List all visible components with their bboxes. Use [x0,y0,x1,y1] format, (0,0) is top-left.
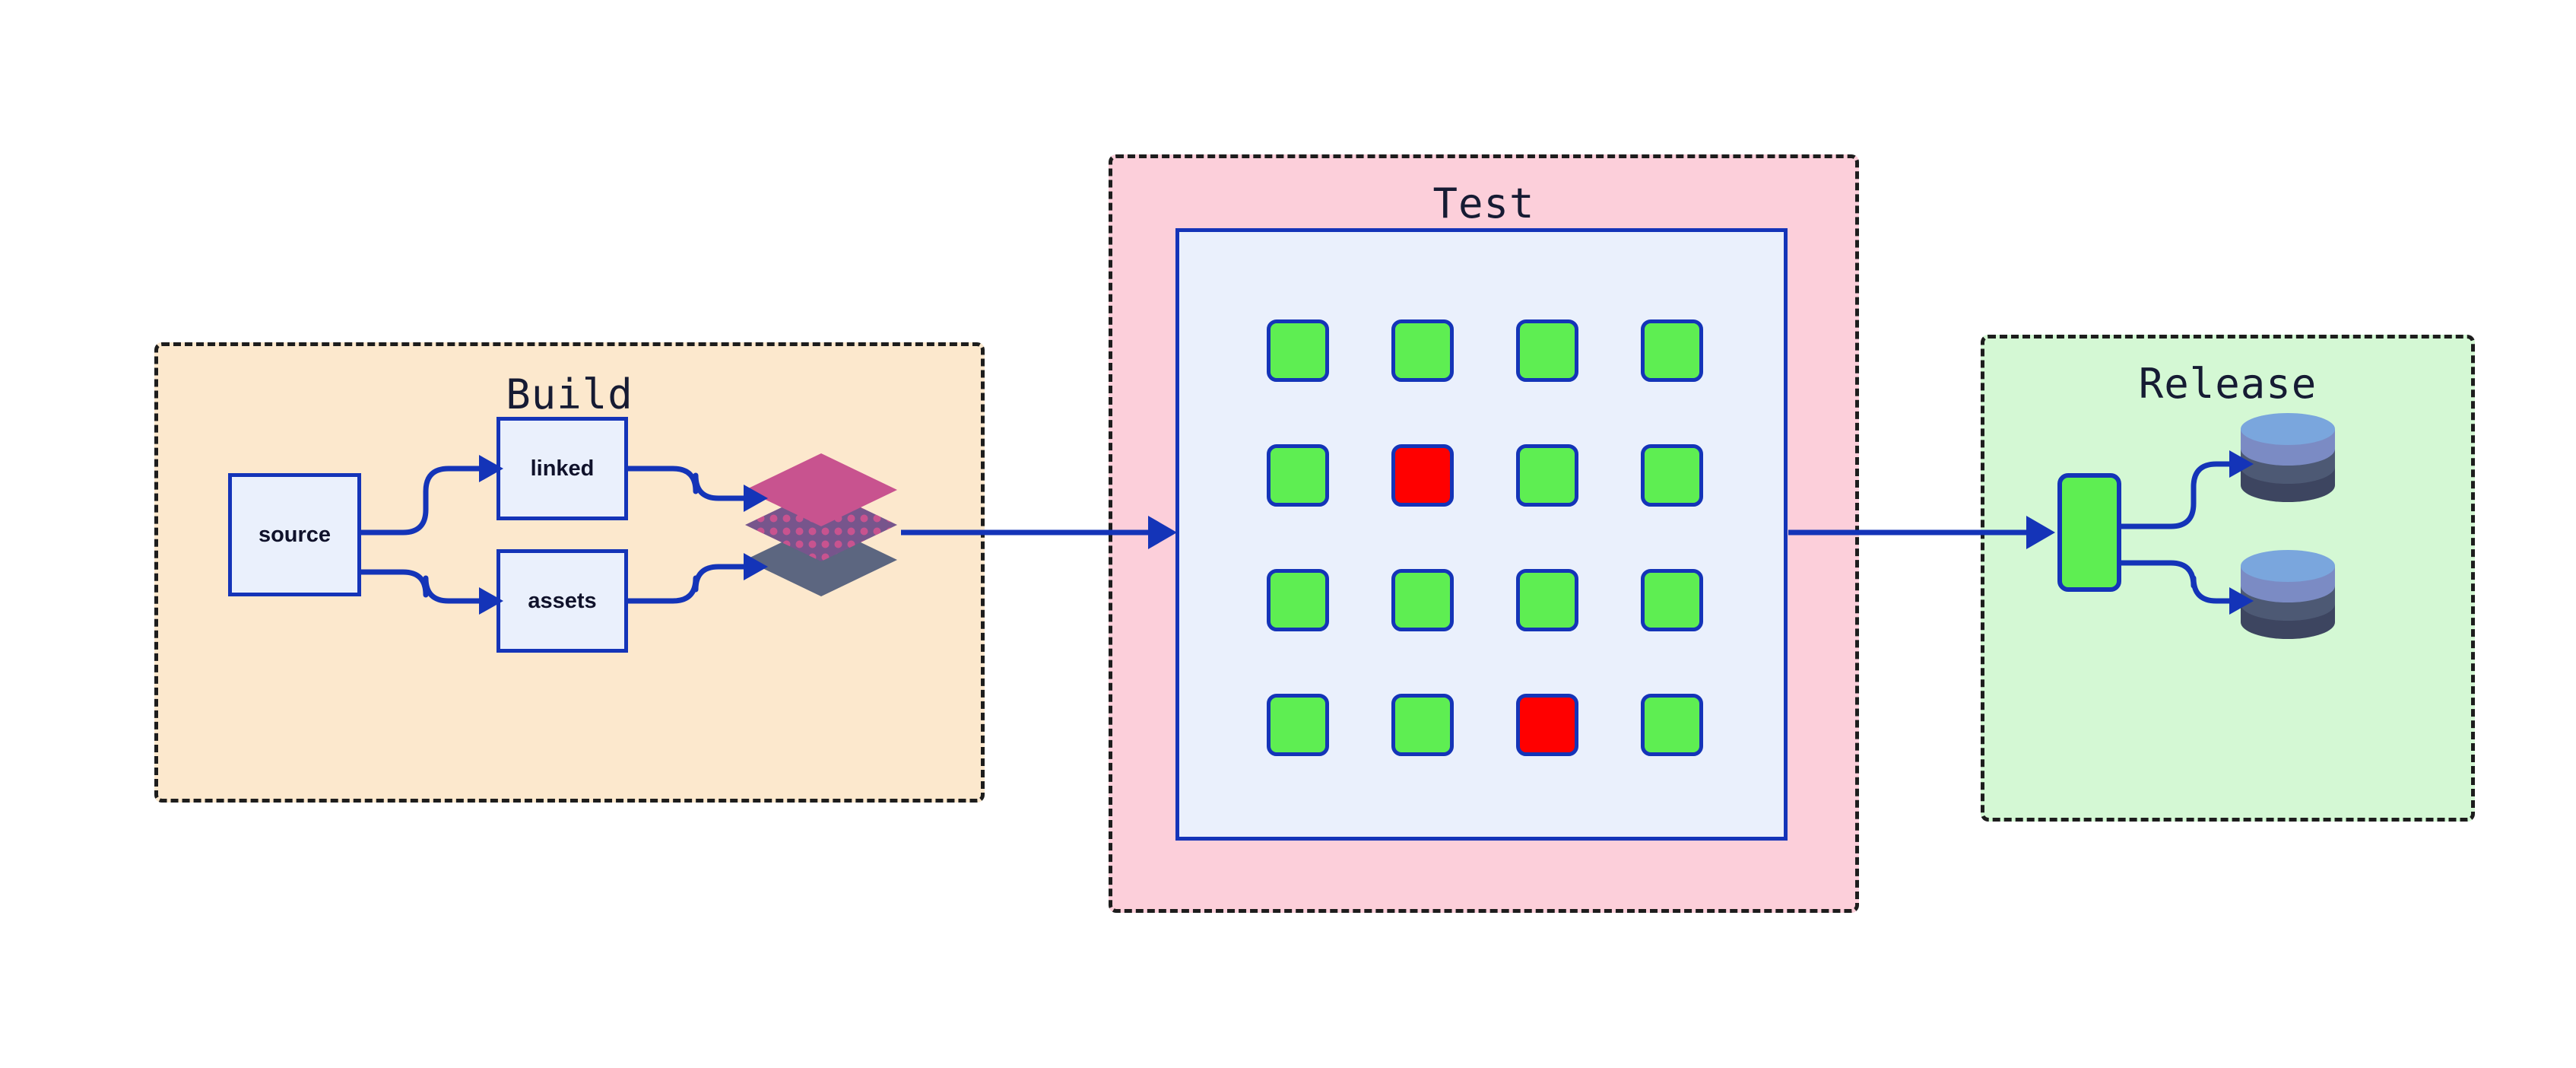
test-cell-r2-c2[interactable] [1391,444,1454,507]
layers-stack-icon [741,447,901,609]
node-linked[interactable]: linked [496,417,628,520]
test-cell-r3-c4[interactable] [1641,569,1703,631]
node-linked-label: linked [531,456,595,482]
node-assets-label: assets [528,589,596,614]
test-cell-r4-c2[interactable] [1391,694,1454,756]
diagram-canvas: Build source linked assets Test Release [0,0,2576,1068]
test-cell-r3-c3[interactable] [1516,569,1578,631]
cluster-release[interactable]: Release [1981,335,2475,822]
test-cell-r2-c3[interactable] [1516,444,1578,507]
test-cell-r4-c3[interactable] [1516,694,1578,756]
test-cell-r1-c4[interactable] [1641,319,1703,382]
cluster-test-title: Test [1112,180,1855,227]
test-cell-r1-c3[interactable] [1516,319,1578,382]
release-gate[interactable] [2057,473,2121,592]
test-cell-r4-c1[interactable] [1267,694,1329,756]
test-result-grid [1267,319,1704,757]
test-cell-r1-c1[interactable] [1267,319,1329,382]
test-cell-r2-c4[interactable] [1641,444,1703,507]
test-cell-r3-c1[interactable] [1267,569,1329,631]
cluster-release-title: Release [1984,360,2471,408]
test-cell-r2-c1[interactable] [1267,444,1329,507]
node-source-label: source [259,523,331,548]
test-cell-r3-c2[interactable] [1391,569,1454,631]
database-icon-primary[interactable] [2239,412,2336,502]
database-icon-replica[interactable] [2239,549,2336,639]
cluster-build-title: Build [158,370,981,418]
test-panel [1175,228,1788,841]
test-cell-r4-c4[interactable] [1641,694,1703,756]
node-source[interactable]: source [228,473,361,596]
node-assets[interactable]: assets [496,549,628,653]
test-cell-r1-c2[interactable] [1391,319,1454,382]
